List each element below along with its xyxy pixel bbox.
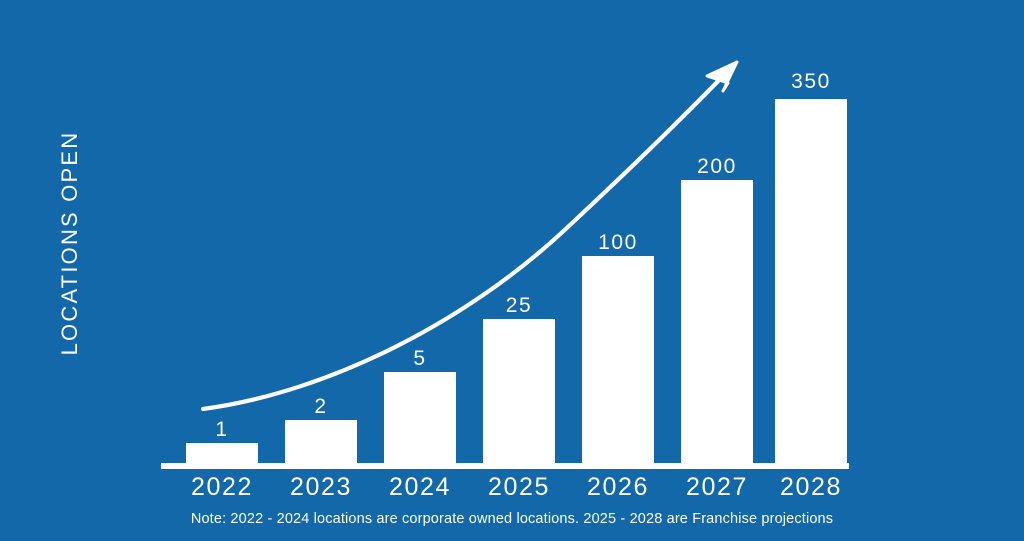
bar-value-label-2026: 100 (582, 231, 654, 255)
bar-2024 (384, 372, 456, 463)
x-tick-label-2026: 2026 (566, 473, 670, 502)
bar-2026 (582, 256, 654, 463)
x-tick-label-2024: 2024 (368, 473, 472, 502)
bar-value-label-2028: 350 (775, 70, 847, 94)
bar-2028 (775, 99, 847, 463)
x-tick-label-2023: 2023 (269, 473, 373, 502)
plot-area: 1 2022 2 2023 5 2024 25 2025 100 2026 20… (0, 0, 1024, 541)
bar-value-label-2025: 25 (483, 294, 555, 318)
bar-value-label-2027: 200 (681, 155, 753, 179)
x-tick-label-2028: 2028 (759, 473, 863, 502)
bar-2025 (483, 319, 555, 463)
bar-2027 (681, 180, 753, 463)
chart-footnote: Note: 2022 - 2024 locations are corporat… (0, 511, 1024, 527)
x-tick-label-2027: 2027 (665, 473, 769, 502)
bar-value-label-2024: 5 (384, 347, 456, 371)
bar-value-label-2022: 1 (186, 418, 258, 442)
x-axis-line (161, 463, 849, 469)
bar-2022 (186, 443, 258, 463)
bar-2023 (285, 420, 357, 463)
x-tick-label-2025: 2025 (467, 473, 571, 502)
x-tick-label-2022: 2022 (170, 473, 274, 502)
chart-canvas: LOCATIONS OPEN 1 2022 2 2023 5 2024 25 2… (0, 0, 1024, 541)
bar-value-label-2023: 2 (285, 395, 357, 419)
